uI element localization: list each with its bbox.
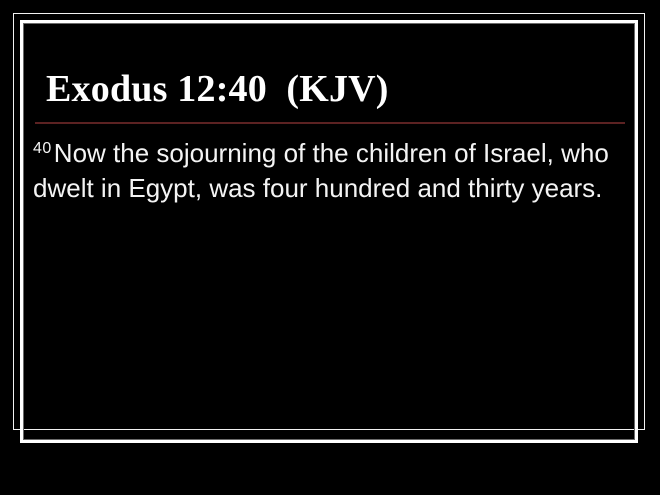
title-divider-rule xyxy=(35,122,625,124)
slide-title: Exodus 12:40 (KJV) xyxy=(46,68,626,110)
verse-text: Now the sojourning of the children of Is… xyxy=(33,138,609,203)
verse-number: 40 xyxy=(33,140,54,157)
bottom-letterbox xyxy=(0,443,660,495)
verse-body: 40Now the sojourning of the children of … xyxy=(33,136,625,206)
slide-content: Exodus 12:40 (KJV) 40Now the sojourning … xyxy=(0,0,660,443)
presentation-slide: Exodus 12:40 (KJV) 40Now the sojourning … xyxy=(0,0,660,495)
